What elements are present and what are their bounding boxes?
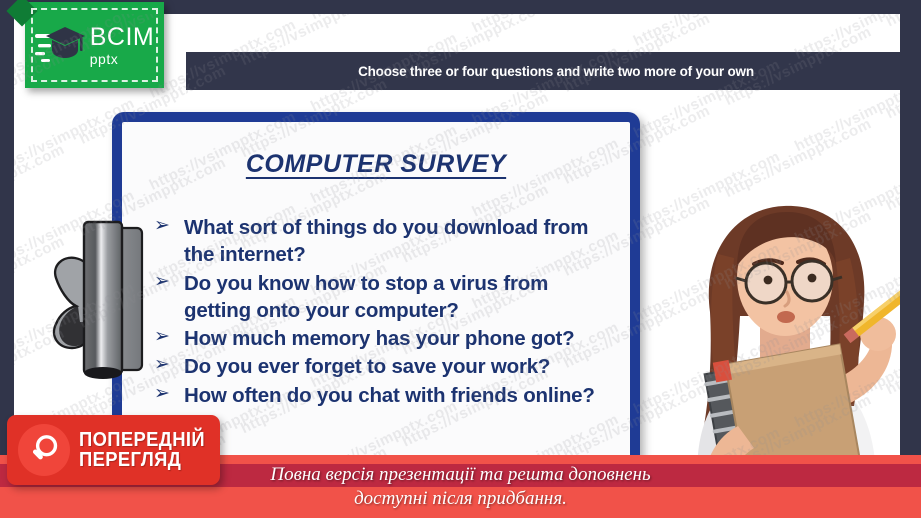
question-text: What sort of things do you download from… (184, 216, 588, 266)
purchase-notice-line-2: доступні після придбання. (354, 487, 567, 511)
magnifier-icon (18, 424, 70, 476)
question-text: Do you know how to stop a virus from get… (184, 272, 548, 322)
question-text: How often do you chat with friends onlin… (184, 384, 595, 407)
survey-question-list: ➢ What sort of things do you download fr… (144, 214, 620, 410)
bullet-arrow-icon: ➢ (154, 352, 170, 377)
preview-badge-line-1: ПОПЕРЕДНІЙ (79, 430, 205, 450)
graduation-cap-icon (35, 23, 85, 67)
list-item: ➢ What sort of things do you download fr… (144, 214, 620, 269)
clipboard-clamp-icon (50, 210, 156, 392)
preview-badge[interactable]: ПОПЕРЕДНІЙ ПЕРЕГЛЯД (7, 415, 220, 485)
list-item: ➢ How much memory has your phone got? (144, 325, 620, 352)
bullet-arrow-icon: ➢ (154, 269, 170, 294)
bullet-arrow-icon: ➢ (154, 324, 170, 349)
slide-frame: COMPUTER SURVEY ➢ What sort of things do… (0, 0, 921, 518)
list-item: ➢ Do you ever forget to save your work? (144, 353, 620, 380)
logo-title: BCIM (90, 25, 155, 50)
list-item: ➢ How often do you chat with friends onl… (144, 382, 620, 409)
question-text: How much memory has your phone got? (184, 327, 575, 350)
bullet-arrow-icon: ➢ (154, 213, 170, 238)
instruction-text: Choose three or four questions and write… (358, 64, 754, 79)
question-text: Do you ever forget to save your work? (184, 355, 550, 378)
purchase-notice-line-1: Повна версія презентації та решта доповн… (270, 463, 650, 487)
preview-badge-line-2: ПЕРЕГЛЯД (79, 450, 205, 470)
instruction-banner: Choose three or four questions and write… (186, 52, 900, 90)
survey-title: COMPUTER SURVEY (122, 150, 630, 179)
logo-subtitle: pptx (90, 52, 155, 66)
list-item: ➢ Do you know how to stop a virus from g… (144, 270, 620, 325)
bcim-logo: BCIM pptx (25, 2, 164, 88)
student-with-notebooks-photo (642, 192, 900, 492)
bullet-arrow-icon: ➢ (154, 381, 170, 406)
